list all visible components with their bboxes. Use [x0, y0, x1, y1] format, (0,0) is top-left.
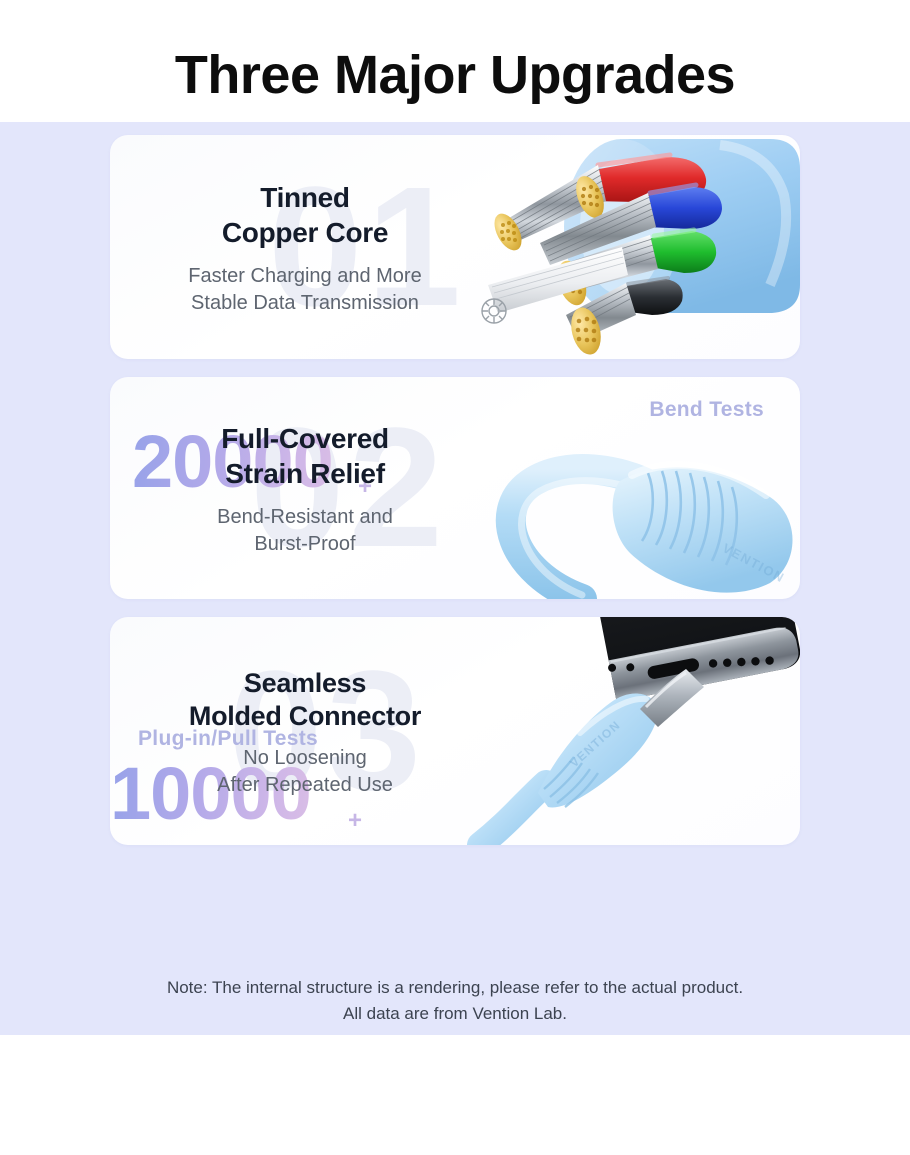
usb-c-cable: VENTION — [480, 669, 704, 845]
card-3-sub-line2: After Repeated Use — [217, 774, 393, 796]
card-2-sub-line1: Bend-Resistant and — [217, 506, 393, 528]
card-1-heading-line1: Tinned — [260, 182, 349, 213]
upgrade-card-2: 02 — [110, 377, 800, 599]
card-2-heading: Full-Covered Strain Relief — [221, 422, 389, 491]
card-3-heading-line1: Seamless — [244, 668, 366, 698]
upgrade-card-list: 01 — [110, 135, 800, 863]
card-1-text-block: Tinned Copper Core Faster Charging and M… — [110, 135, 500, 359]
note-line-2: All data are from Vention Lab. — [0, 1001, 910, 1027]
card-2-subtext: Bend-Resistant and Burst-Proof — [217, 504, 393, 558]
card-1-sub-line2: Stable Data Transmission — [191, 292, 419, 314]
card-3-subtext: No Loosening After Repeated Use — [217, 745, 393, 799]
card-2-text-block: Full-Covered Strain Relief Bend-Resistan… — [110, 377, 500, 599]
card-2-heading-line1: Full-Covered — [221, 423, 389, 454]
card-3-heading-line2: Molded Connector — [189, 701, 421, 731]
card-1-heading-line2: Copper Core — [222, 217, 388, 248]
cable-cross-section-render — [470, 135, 800, 359]
upgrade-card-1: 01 — [110, 135, 800, 359]
card-3-heading: Seamless Molded Connector — [189, 667, 421, 734]
card-3-sub-line1: No Loosening — [243, 747, 366, 769]
card-2-stat-label: Bend Tests — [649, 398, 764, 422]
card-2-sub-line2: Burst-Proof — [254, 533, 355, 555]
usb-c-connector-and-phone: VENTION — [460, 617, 800, 845]
disclaimer-note: Note: The internal structure is a render… — [0, 975, 910, 1026]
page-title: Three Major Upgrades — [0, 48, 910, 102]
card-1-sub-line1: Faster Charging and More — [188, 265, 421, 287]
card-3-text-block: Seamless Molded Connector No Loosening A… — [110, 617, 500, 845]
card-1-subtext: Faster Charging and More Stable Data Tra… — [188, 263, 421, 317]
card-1-heading: Tinned Copper Core — [222, 181, 388, 250]
note-line-1: Note: The internal structure is a render… — [0, 975, 910, 1001]
card-2-heading-line2: Strain Relief — [225, 458, 384, 489]
upgrade-card-3: 03 — [110, 617, 800, 845]
